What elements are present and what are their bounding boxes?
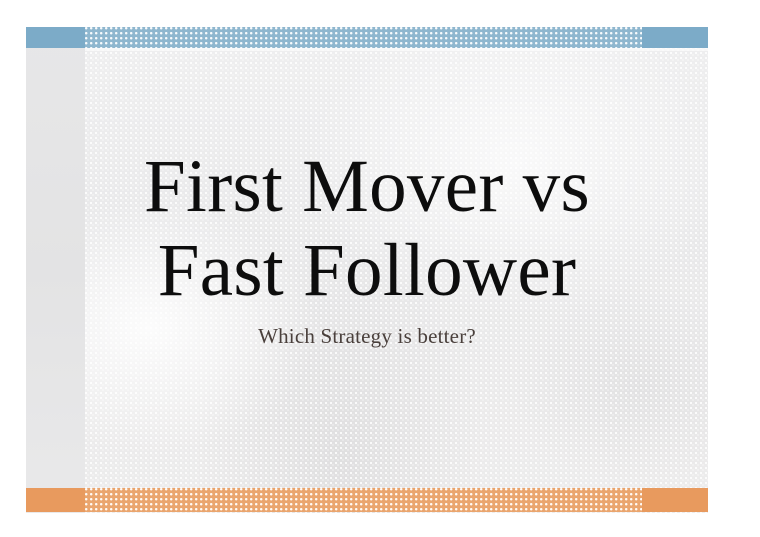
header-band-left-block: [26, 27, 85, 48]
title-line-2: Fast Follower: [26, 229, 708, 313]
slide-canvas: First Mover vs Fast Follower Which Strat…: [0, 0, 760, 537]
slide-title: First Mover vs Fast Follower: [26, 145, 708, 313]
footer-accent-band: [26, 488, 708, 512]
slide-subtitle: Which Strategy is better?: [26, 323, 708, 349]
header-band-pattern: [85, 27, 642, 48]
slide: First Mover vs Fast Follower Which Strat…: [26, 27, 708, 513]
header-band-right-block: [642, 27, 708, 48]
title-line-1: First Mover vs: [26, 145, 708, 229]
header-accent-band: [26, 27, 708, 48]
footer-band-pattern: [85, 488, 642, 512]
header-band-underline: [85, 48, 708, 51]
footer-band-left-block: [26, 488, 85, 512]
footer-band-right-block: [642, 488, 708, 512]
